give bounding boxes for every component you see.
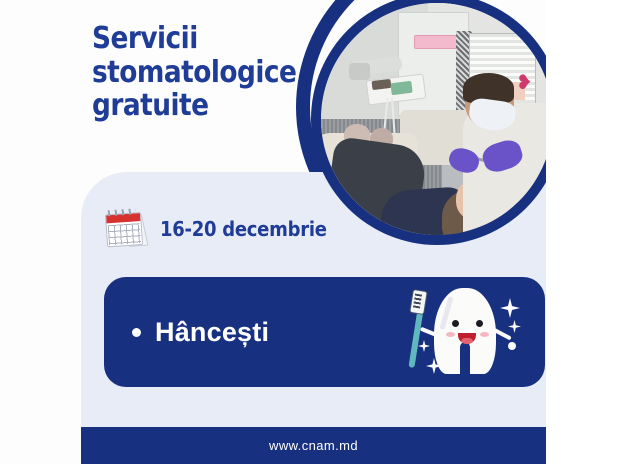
poster-canvas: ❥ Servicii stomatologice gratuite 16-20 … xyxy=(0,0,626,464)
title-line-1: Servicii xyxy=(92,22,296,56)
right-letterbox xyxy=(546,0,626,464)
tooth-eye-right xyxy=(476,320,483,327)
dentist-photo: ❥ xyxy=(321,3,546,235)
photo-tray-item-dark xyxy=(372,78,392,89)
tooth-mascot xyxy=(392,280,534,386)
photo-dental-lamp-head xyxy=(349,63,370,79)
tooth-blush-right xyxy=(480,332,489,337)
calendar-front-page xyxy=(105,212,143,247)
poster-title: Servicii stomatologice gratuite xyxy=(92,22,296,123)
tooth-tongue xyxy=(461,338,473,344)
footer-bar: www.cnam.md xyxy=(81,427,546,464)
tooth-hand-right xyxy=(508,342,516,350)
tooth-root-notch xyxy=(460,342,470,376)
photo-dentist-hair xyxy=(463,73,514,103)
location-name: Hâncești xyxy=(155,317,269,348)
location-row: Hâncești xyxy=(132,277,269,387)
sparkle-icon-small xyxy=(508,320,521,333)
tooth-eye-left xyxy=(452,320,459,327)
location-bullet-icon xyxy=(132,328,141,337)
tooth-mouth-upper xyxy=(458,329,476,333)
title-line-2: stomatologice xyxy=(92,56,296,90)
photo-tray-item-green xyxy=(390,81,412,95)
photo-cabinet-pink-label xyxy=(414,35,458,49)
date-text: 16-20 decembrie xyxy=(160,217,327,241)
website-url[interactable]: www.cnam.md xyxy=(81,427,546,464)
title-line-3: gratuite xyxy=(92,89,296,123)
sparkle-icon-large xyxy=(500,298,520,318)
photo-tooth-logo-icon: ❥ xyxy=(516,73,544,103)
dentist-photo-ring: ❥ xyxy=(311,0,546,245)
date-row: 16-20 decembrie xyxy=(106,211,345,247)
sparkle-icon-left-small xyxy=(418,340,430,352)
calendar-grid xyxy=(108,223,141,245)
tooth-blush-left xyxy=(446,332,455,337)
poster-artwork: ❥ Servicii stomatologice gratuite 16-20 … xyxy=(0,0,546,464)
dental-office-scene: ❥ xyxy=(321,3,546,235)
calendar-icon xyxy=(105,210,149,249)
